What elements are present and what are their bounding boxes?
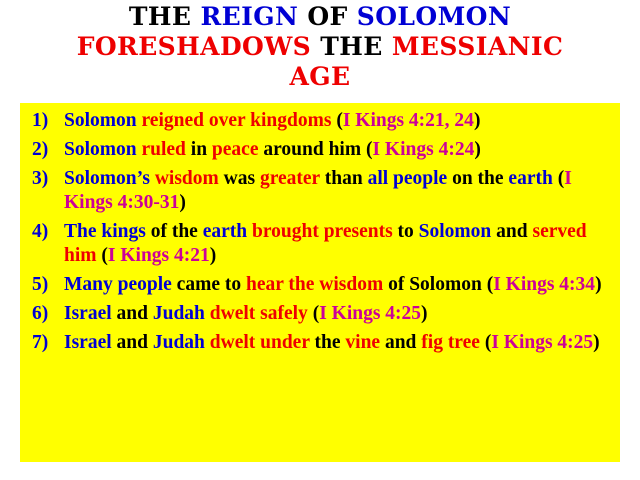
title-line: THE REIGN OF SOLOMON (0, 2, 640, 32)
text-segment: and (496, 221, 532, 242)
title-segment: AGE (289, 62, 350, 91)
list-item-text: Many people came to hear the wisdom of S… (64, 273, 612, 297)
text-segment: Judah (153, 332, 210, 353)
text-segment: I Kings 4:21, 24 (343, 110, 474, 131)
text-segment: wisdom (155, 168, 224, 189)
list-item: 6)Israel and Judah dwelt safely (I Kings… (28, 302, 612, 326)
list-item: 4)The kings of the earth brought present… (28, 220, 612, 268)
points-panel: 1)Solomon reigned over kingdoms (I Kings… (20, 103, 620, 462)
text-segment: The kings (64, 221, 151, 242)
list-item-number: 2) (28, 138, 64, 162)
text-segment: peace (212, 139, 263, 160)
list-item-number: 7) (28, 331, 64, 355)
list-item: 2)Solomon ruled in peace around him (I K… (28, 138, 612, 162)
list-item-number: 1) (28, 109, 64, 133)
text-segment: greater (260, 168, 325, 189)
list-item: 3)Solomon’s wisdom was greater than all … (28, 167, 612, 215)
text-segment: reigned over kingdoms (141, 110, 336, 131)
text-segment: ruled (141, 139, 190, 160)
text-segment: Solomon (64, 110, 141, 131)
text-segment: earth (203, 221, 252, 242)
text-segment: ) (210, 245, 217, 266)
text-segment: of Solomon (388, 274, 487, 295)
text-segment: hear the wisdom (246, 274, 388, 295)
text-segment: ) (595, 274, 602, 295)
text-segment: brought presents (252, 221, 398, 242)
title-line: FORESHADOWS THE MESSIANIC (0, 32, 640, 62)
text-segment: ) (474, 110, 481, 131)
text-segment: Israel (64, 303, 117, 324)
title-segment: THE (320, 32, 392, 61)
text-segment: was (224, 168, 260, 189)
list-item-text: Israel and Judah dwelt under the vine an… (64, 331, 612, 355)
text-segment: Many people (64, 274, 177, 295)
list-item-number: 3) (28, 167, 64, 191)
text-segment: dwelt under (210, 332, 315, 353)
list-item: 5)Many people came to hear the wisdom of… (28, 273, 612, 297)
text-segment: Solomon’s (64, 168, 155, 189)
title-segment: FORESHADOWS (77, 32, 321, 61)
list-item-text: Solomon ruled in peace around him (I Kin… (64, 138, 612, 162)
text-segment: the (315, 332, 346, 353)
list-item-number: 5) (28, 273, 64, 297)
text-segment: than (325, 168, 368, 189)
text-segment: vine (345, 332, 385, 353)
text-segment: and (117, 303, 153, 324)
list-item-text: Solomon’s wisdom was greater than all pe… (64, 167, 612, 215)
text-segment: and (385, 332, 421, 353)
text-segment: all people (368, 168, 453, 189)
slide-title: THE REIGN OF SOLOMONFORESHADOWS THE MESS… (0, 2, 640, 92)
text-segment: I Kings 4:21 (108, 245, 210, 266)
list-item-text: Solomon reigned over kingdoms (I Kings 4… (64, 109, 612, 133)
list-item-text: Israel and Judah dwelt safely (I Kings 4… (64, 302, 612, 326)
text-segment: fig tree (421, 332, 485, 353)
points-list: 1)Solomon reigned over kingdoms (I Kings… (28, 109, 612, 355)
text-segment: I Kings 4:34 (493, 274, 595, 295)
text-segment: earth (508, 168, 557, 189)
text-segment: Solomon (419, 221, 496, 242)
text-segment: in (191, 139, 212, 160)
slide-canvas: THE REIGN OF SOLOMONFORESHADOWS THE MESS… (0, 0, 640, 480)
text-segment: dwelt safely (210, 303, 313, 324)
list-item-number: 4) (28, 220, 64, 244)
text-segment: ) (421, 303, 428, 324)
text-segment: I Kings 4:24 (372, 139, 474, 160)
text-segment: came to (177, 274, 246, 295)
text-segment: on the (452, 168, 508, 189)
title-segment: SOLOMON (357, 2, 511, 31)
text-segment: Israel (64, 332, 117, 353)
text-segment: ) (593, 332, 600, 353)
text-segment: I Kings 4:25 (319, 303, 421, 324)
list-item-number: 6) (28, 302, 64, 326)
text-segment: ) (179, 192, 186, 213)
title-segment: REIGN (201, 2, 308, 31)
title-segment: OF (307, 2, 356, 31)
text-segment: Judah (153, 303, 210, 324)
text-segment: around him (263, 139, 366, 160)
text-segment: I Kings 4:25 (491, 332, 593, 353)
title-line: AGE (0, 62, 640, 92)
title-segment: MESSIANIC (392, 32, 563, 61)
text-segment: of the (151, 221, 203, 242)
text-segment: Solomon (64, 139, 141, 160)
list-item: 1)Solomon reigned over kingdoms (I Kings… (28, 109, 612, 133)
text-segment: ) (474, 139, 481, 160)
list-item-text: The kings of the earth brought presents … (64, 220, 612, 268)
list-item: 7)Israel and Judah dwelt under the vine … (28, 331, 612, 355)
text-segment: and (117, 332, 153, 353)
title-segment: THE (129, 2, 201, 31)
text-segment: to (398, 221, 419, 242)
